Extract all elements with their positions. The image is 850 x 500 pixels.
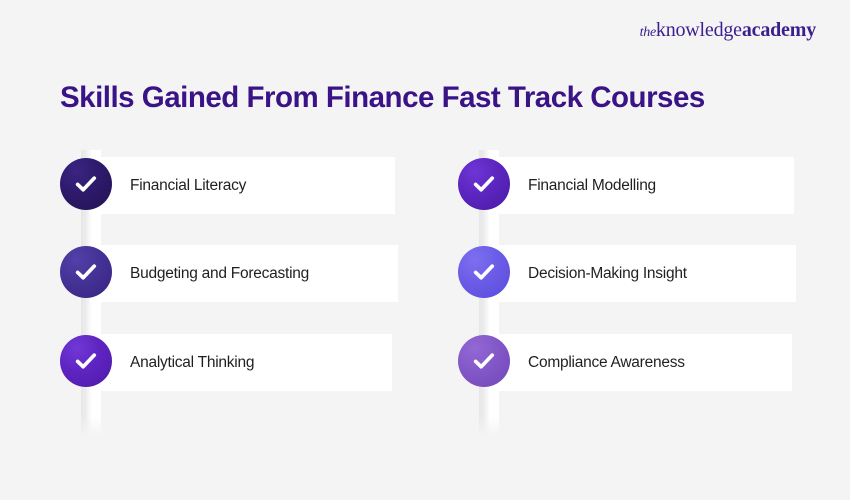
skills-column-right: Financial Modelling Decision-Making Insi… [458,146,803,436]
skill-card[interactable]: Budgeting and Forecasting [90,245,398,302]
skill-label: Financial Modelling [528,177,656,195]
logo-word-knowledge: knowledge [656,19,742,41]
skill-card[interactable]: Financial Literacy [90,157,395,214]
skills-list: Financial Literacy Budgeting and Forecas… [0,146,850,436]
check-icon [60,246,112,298]
list-item[interactable]: Analytical Thinking [60,334,405,391]
skill-card[interactable]: Financial Modelling [488,157,794,214]
list-item[interactable]: Compliance Awareness [458,334,803,391]
skill-card[interactable]: Analytical Thinking [90,334,392,391]
page-title: Skills Gained From Finance Fast Track Co… [60,81,800,115]
brand-logo: theknowledgeacademy [640,20,816,40]
check-icon [60,158,112,210]
skill-label: Budgeting and Forecasting [130,265,309,283]
skill-label: Analytical Thinking [130,354,254,372]
check-icon [458,246,510,298]
skill-card[interactable]: Compliance Awareness [488,334,792,391]
skills-column-left: Financial Literacy Budgeting and Forecas… [60,146,405,436]
list-item[interactable]: Financial Modelling [458,157,803,214]
skill-label: Financial Literacy [130,177,246,195]
list-item[interactable]: Decision-Making Insight [458,245,803,302]
logo-word-academy: academy [742,19,816,41]
check-icon [458,158,510,210]
skill-label: Compliance Awareness [528,354,685,372]
skill-label: Decision-Making Insight [528,265,687,283]
list-item[interactable]: Financial Literacy [60,157,405,214]
check-icon [458,335,510,387]
check-icon [60,335,112,387]
skill-card[interactable]: Decision-Making Insight [488,245,796,302]
list-item[interactable]: Budgeting and Forecasting [60,245,405,302]
logo-word-the: the [640,25,656,40]
